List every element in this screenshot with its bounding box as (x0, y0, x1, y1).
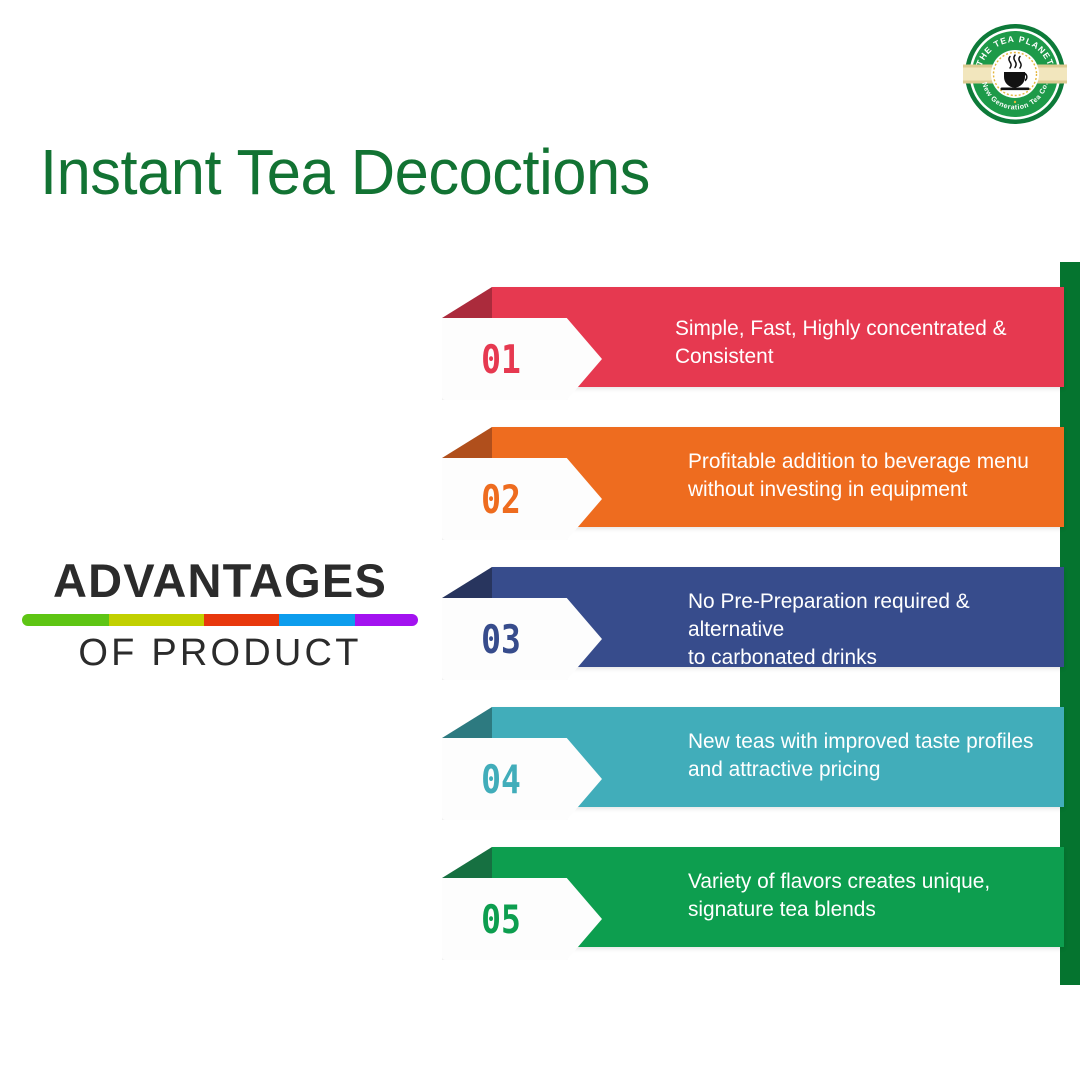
advantage-text: No Pre-Preparation required & alternativ… (688, 587, 1053, 671)
advantage-row[interactable]: Simple, Fast, Highly concentrated & Cons… (442, 287, 1064, 417)
advantage-number: 01 (442, 311, 560, 408)
advantage-number: 04 (442, 731, 560, 828)
advantage-row[interactable]: Profitable addition to beverage menu wit… (442, 427, 1064, 557)
advantage-text: Profitable addition to beverage menu wit… (688, 447, 1029, 503)
advantage-row[interactable]: No Pre-Preparation required & alternativ… (442, 567, 1064, 697)
advantage-text: New teas with improved taste profiles an… (688, 727, 1033, 783)
advantage-text: Variety of flavors creates unique, signa… (688, 867, 990, 923)
advantage-number: 05 (442, 871, 560, 968)
ribbon-fold-corner-icon (442, 847, 492, 878)
advantage-number: 03 (442, 591, 560, 688)
ribbon-fold-corner-icon (442, 567, 492, 598)
advantage-row[interactable]: Variety of flavors creates unique, signa… (442, 847, 1064, 977)
ribbon-fold-corner-icon (442, 427, 492, 458)
advantage-ribbon-list: Simple, Fast, Highly concentrated & Cons… (0, 0, 1080, 1080)
slide-canvas: THE TEA PLANET New Generation Tea Co. In… (0, 0, 1080, 1080)
advantage-number: 02 (442, 451, 560, 548)
advantage-row[interactable]: New teas with improved taste profiles an… (442, 707, 1064, 837)
ribbon-fold-corner-icon (442, 707, 492, 738)
advantage-text: Simple, Fast, Highly concentrated & Cons… (675, 314, 1052, 370)
ribbon-fold-corner-icon (442, 287, 492, 318)
